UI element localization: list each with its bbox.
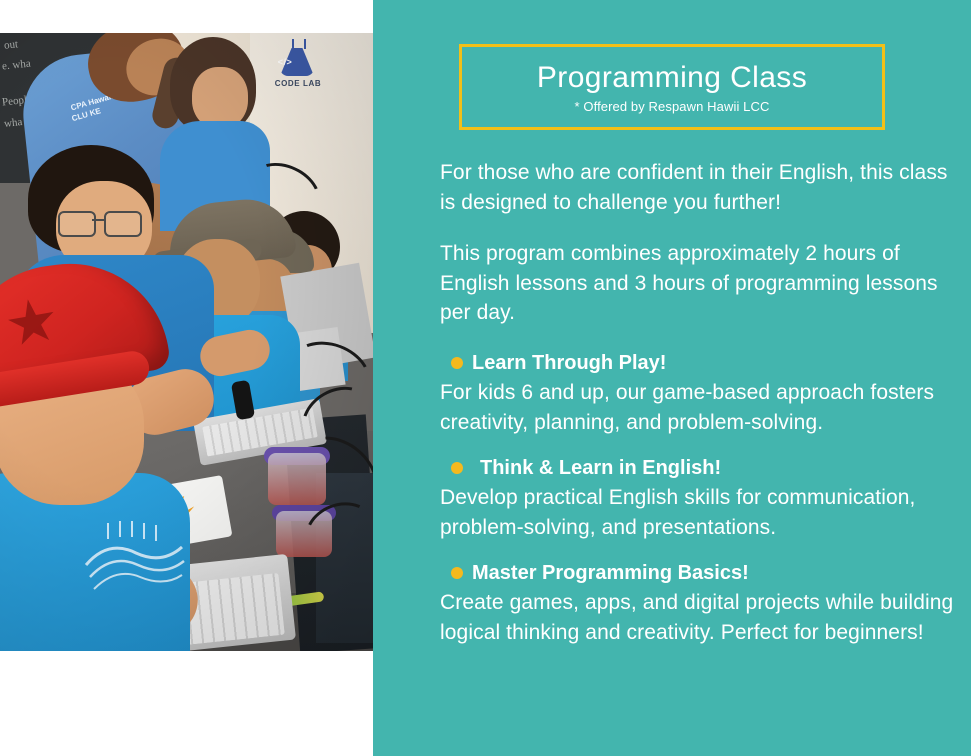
- page-root: out e. wha People wha I </> CODE LAB CPA…: [0, 0, 971, 756]
- feature-block-learn-through-play: Learn Through Play! For kids 6 and up, o…: [440, 350, 960, 437]
- title-box: Programming Class * Offered by Respawn H…: [459, 44, 885, 130]
- feature-body: Create games, apps, and digital projects…: [440, 588, 960, 647]
- feature-heading-text: Master Programming Basics!: [472, 560, 749, 586]
- feature-heading: Learn Through Play!: [440, 350, 960, 376]
- feature-heading-text: Think & Learn in English!: [480, 455, 721, 481]
- photo-vignette: [0, 33, 374, 651]
- bullet-dot-icon: [451, 357, 463, 369]
- feature-block-think-learn-english: Think & Learn in English! Develop practi…: [440, 455, 960, 542]
- feature-heading: Master Programming Basics!: [440, 560, 960, 586]
- intro-paragraph-1: For those who are confident in their Eng…: [440, 158, 960, 217]
- bullet-dot-icon: [451, 567, 463, 579]
- content-panel: Programming Class * Offered by Respawn H…: [373, 0, 971, 756]
- page-subtitle: * Offered by Respawn Hawii LCC: [575, 99, 770, 114]
- feature-heading-text: Learn Through Play!: [472, 350, 666, 376]
- bullet-dot-icon: [451, 462, 463, 474]
- classroom-photo: out e. wha People wha I </> CODE LAB CPA…: [0, 33, 374, 651]
- feature-body: For kids 6 and up, our game-based approa…: [440, 378, 960, 437]
- feature-body: Develop practical English skills for com…: [440, 483, 960, 542]
- page-title: Programming Class: [537, 61, 807, 94]
- intro-paragraph-2: This program combines approximately 2 ho…: [440, 239, 960, 328]
- feature-heading: Think & Learn in English!: [440, 455, 960, 481]
- feature-block-master-programming-basics: Master Programming Basics! Create games,…: [440, 560, 960, 647]
- photo-scene: out e. wha People wha I </> CODE LAB CPA…: [0, 33, 374, 651]
- panel-body: For those who are confident in their Eng…: [440, 158, 960, 666]
